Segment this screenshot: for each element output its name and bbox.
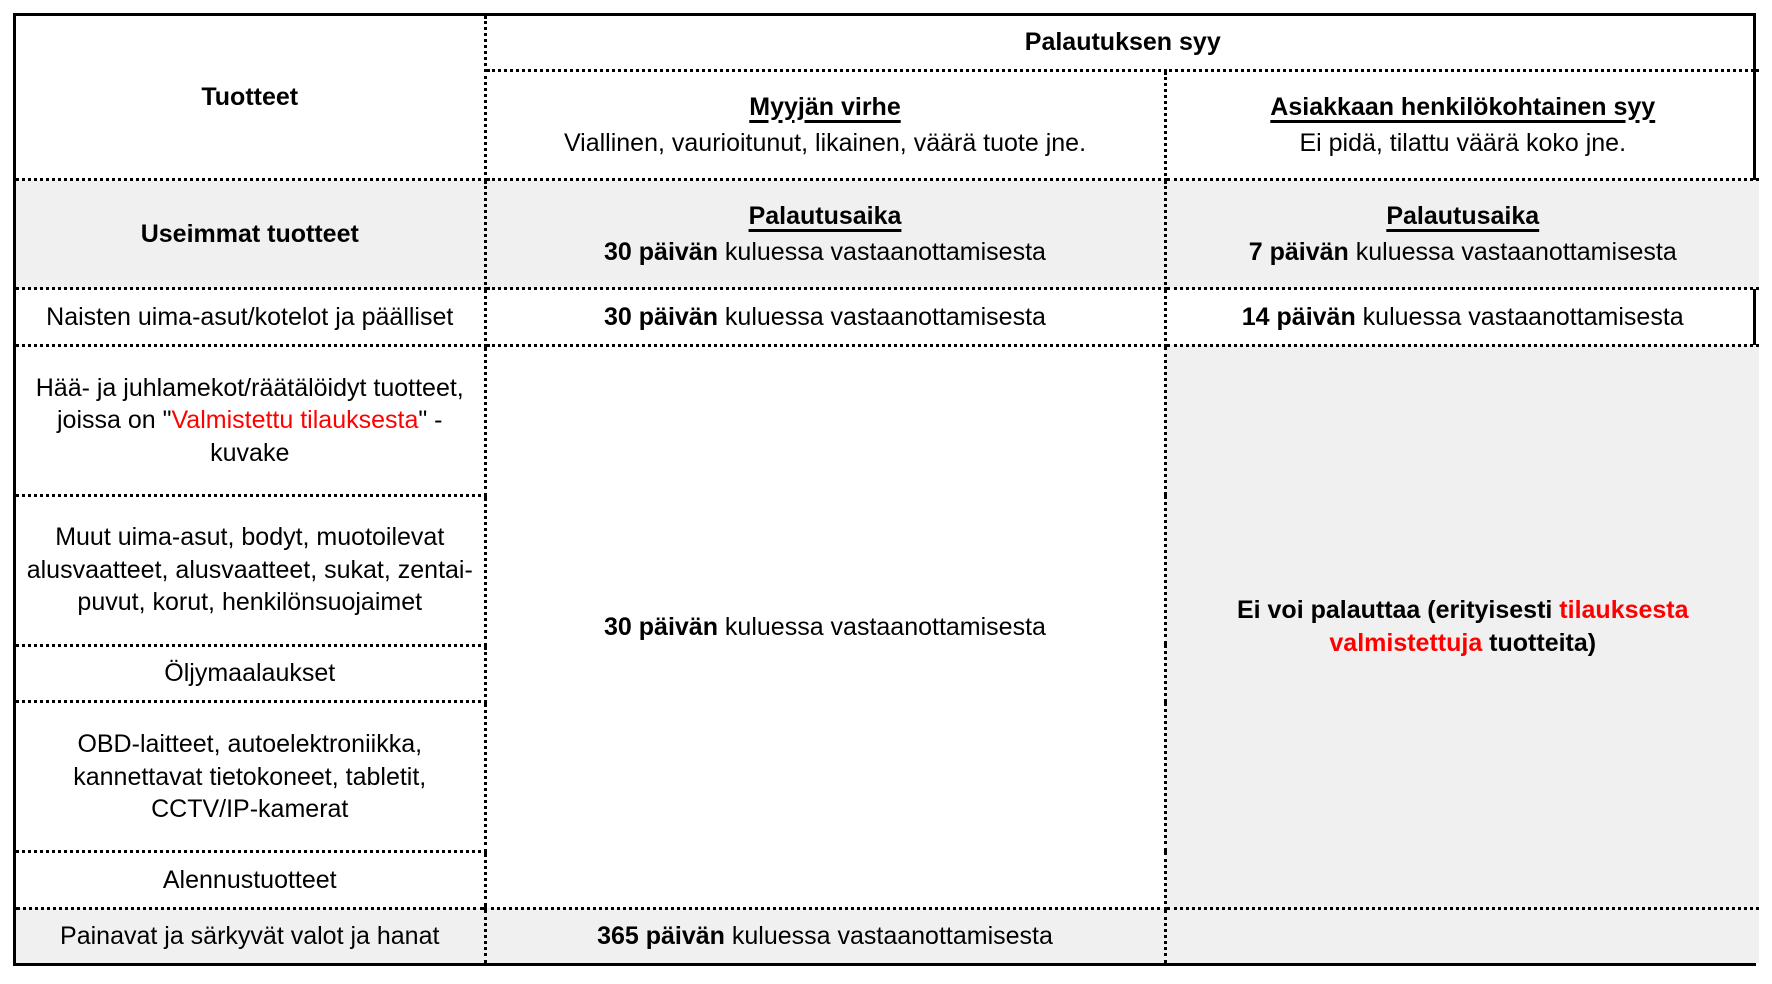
cell-useimmat-customer-title: Palautusaika: [1386, 202, 1539, 230]
header-customer-reason-subtitle: Ei pidä, tilattu väärä koko jne.: [1175, 127, 1752, 160]
cell-useimmat-seller-fault-title: Palautusaika: [749, 202, 902, 230]
row-product-alennustuotteet: Alennustuotteet: [16, 852, 485, 909]
table-row: Naisten uima-asut/kotelot ja päälliset 3…: [16, 289, 1759, 346]
row-product-painavat-sarkyvat: Painavat ja särkyvät valot ja hanat: [16, 908, 485, 963]
return-policy-table-container: Tuotteet Palautuksen syy Myyjän virhe Vi…: [13, 13, 1756, 966]
table-row: Painavat ja särkyvät valot ja hanat 365 …: [16, 908, 1759, 963]
header-return-reason: Palautuksen syy: [485, 16, 1759, 71]
table-header-row-top: Tuotteet Palautuksen syy: [16, 16, 1759, 71]
row-product-haa-juhlamekot: Hää- ja juhlamekot/räätälöidyt tuotteet,…: [16, 345, 485, 495]
row-product-useimmat: Useimmat tuotteet: [16, 180, 485, 289]
row-product-oljymaalaukset: Öljymaalaukset: [16, 645, 485, 702]
header-customer-reason-title: Asiakkaan henkilökohtainen syy: [1270, 93, 1655, 121]
cell-useimmat-customer-value: 7 päivän kuluessa vastaanottamisesta: [1175, 236, 1752, 269]
row-product-obd-laitteet: OBD-laitteet, autoelektroniikka, kannett…: [16, 702, 485, 852]
header-seller-fault-title: Myyjän virhe: [749, 93, 900, 121]
cell-merged-seller-fault: 30 päivän kuluessa vastaanottamisesta: [485, 345, 1165, 908]
return-policy-table: Tuotteet Palautuksen syy Myyjän virhe Vi…: [16, 16, 1759, 963]
cell-naisten-customer: 14 päivän kuluessa vastaanottamisesta: [1165, 289, 1759, 346]
header-customer-reason: Asiakkaan henkilökohtainen syy Ei pidä, …: [1165, 71, 1759, 180]
header-products: Tuotteet: [16, 16, 485, 180]
cell-useimmat-customer: Palautusaika 7 päivän kuluessa vastaanot…: [1165, 180, 1759, 289]
row-product-naisten-uima-asut: Naisten uima-asut/kotelot ja päälliset: [16, 289, 485, 346]
cell-useimmat-seller-fault: Palautusaika 30 päivän kuluessa vastaano…: [485, 180, 1165, 289]
header-seller-fault-subtitle: Viallinen, vaurioitunut, likainen, väärä…: [495, 127, 1156, 160]
cell-painavat-seller-fault: 365 päivän kuluessa vastaanottamisesta: [485, 908, 1165, 963]
header-seller-fault: Myyjän virhe Viallinen, vaurioitunut, li…: [485, 71, 1165, 180]
cell-merged-customer-no-return: Ei voi palauttaa (erityisesti tilauksest…: [1165, 345, 1759, 908]
table-row: Useimmat tuotteet Palautusaika 30 päivän…: [16, 180, 1759, 289]
table-row: Hää- ja juhlamekot/räätälöidyt tuotteet,…: [16, 345, 1759, 495]
cell-painavat-customer-empty: [1165, 908, 1759, 963]
cell-useimmat-seller-fault-value: 30 päivän kuluessa vastaanottamisesta: [495, 236, 1156, 269]
row-product-muut-uima-asut: Muut uima-asut, bodyt, muotoilevat alusv…: [16, 495, 485, 645]
cell-naisten-seller-fault: 30 päivän kuluessa vastaanottamisesta: [485, 289, 1165, 346]
